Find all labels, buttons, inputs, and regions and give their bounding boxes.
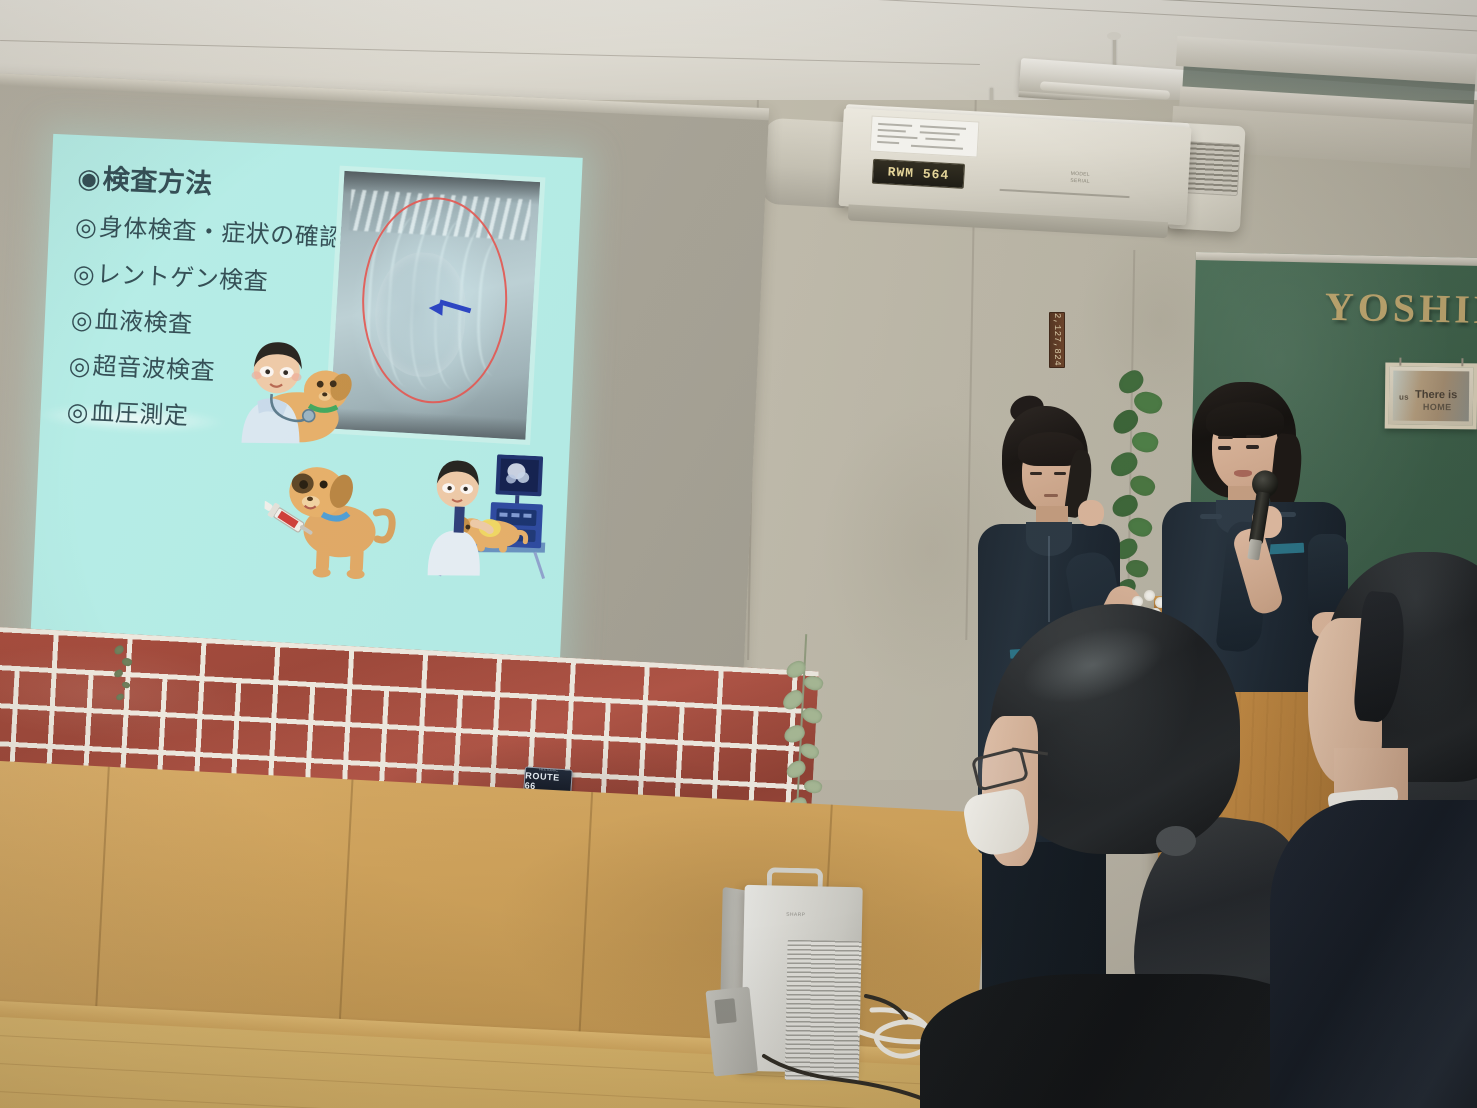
ac-brand-plate-label: RWM 564	[887, 165, 949, 183]
bullet-marker: ◎	[68, 353, 91, 379]
presenter-right-mouth	[1234, 470, 1252, 477]
presenter-left-mouth	[1044, 494, 1058, 497]
framed-picture-image: us There is HOME	[1393, 371, 1470, 422]
framed-picture-line1: us	[1399, 393, 1409, 402]
dog-blood-test-illustration	[261, 450, 407, 584]
air-purifier[interactable]: SHARP	[733, 867, 865, 1075]
air-purifier-grille	[785, 940, 862, 1082]
framed-picture-line3: HOME	[1423, 402, 1452, 412]
audience-2-jacket	[1270, 800, 1477, 1108]
air-conditioner-unit: RWM 564 MODELSERIAL	[837, 108, 1244, 258]
classroom-presentation-photo: YOSHID us There is HOME	[0, 0, 1477, 1108]
ac-spec-sticker	[870, 116, 980, 158]
projected-slide: ◉ 検査方法 ◎ 身体検査・症状の確認 ◎ レントゲン検査 ◎ 血液検査 ◎	[29, 134, 582, 687]
slide-bullet-1: ◎ 身体検査・症状の確認	[75, 214, 376, 253]
inventory-tag: 2,127,824	[1049, 312, 1065, 368]
air-purifier-body: SHARP	[741, 885, 863, 1073]
bullet-marker: ◎	[72, 260, 95, 286]
bullet-text: 身体検査・症状の確認	[98, 215, 344, 251]
air-purifier-filter-panel	[705, 987, 757, 1077]
ac-vent-grille	[1184, 141, 1241, 196]
small-ivy-sprig	[108, 640, 148, 710]
bullet-marker: ◎	[70, 307, 93, 333]
ac-duct	[761, 118, 852, 209]
board-letters: YOSHID	[1324, 283, 1477, 334]
ac-model-text: MODELSERIAL	[1070, 171, 1090, 185]
bullet-text: 血液検査	[94, 308, 193, 338]
xray-image	[324, 166, 545, 445]
ultrasound-illustration	[426, 451, 562, 583]
ac-panel-seam	[1000, 189, 1130, 198]
audience-member-front-center	[960, 604, 1290, 1108]
presenter-right-bangs	[1206, 402, 1284, 438]
slide-bullet-2: ◎ レントゲン検査	[72, 260, 373, 299]
ac-brand-plate: RWM 564	[872, 159, 965, 189]
slide-bullet-0: ◉ 検査方法	[77, 165, 378, 207]
audience-member-front-right	[1300, 552, 1477, 1108]
presenter-left-hand-at-face	[1078, 500, 1104, 526]
air-purifier-logo: SHARP	[786, 912, 805, 918]
bullet-marker: ◎	[66, 399, 89, 425]
framed-picture-line2: There is	[1415, 389, 1457, 401]
bullet-marker: ◎	[75, 214, 98, 240]
air-purifier-filter-window	[714, 998, 736, 1024]
xray-annotation-arrow	[428, 302, 471, 316]
bullet-text: 血圧測定	[90, 400, 189, 430]
bullet-text: 検査方法	[102, 166, 213, 199]
light-hanger-cap	[1107, 32, 1121, 40]
framed-picture: us There is HOME	[1385, 362, 1477, 429]
bullet-text: 超音波検査	[92, 354, 216, 385]
inventory-tag-number: 2,127,824	[1052, 313, 1062, 366]
audience-1-shoulders	[920, 974, 1320, 1108]
audience-1-hair-tie	[1156, 826, 1196, 856]
vet-examining-dog-illustration	[235, 331, 358, 452]
bullet-marker: ◉	[77, 165, 102, 193]
microphone-tip	[1247, 539, 1262, 561]
bullet-text: レントゲン検査	[96, 262, 268, 295]
